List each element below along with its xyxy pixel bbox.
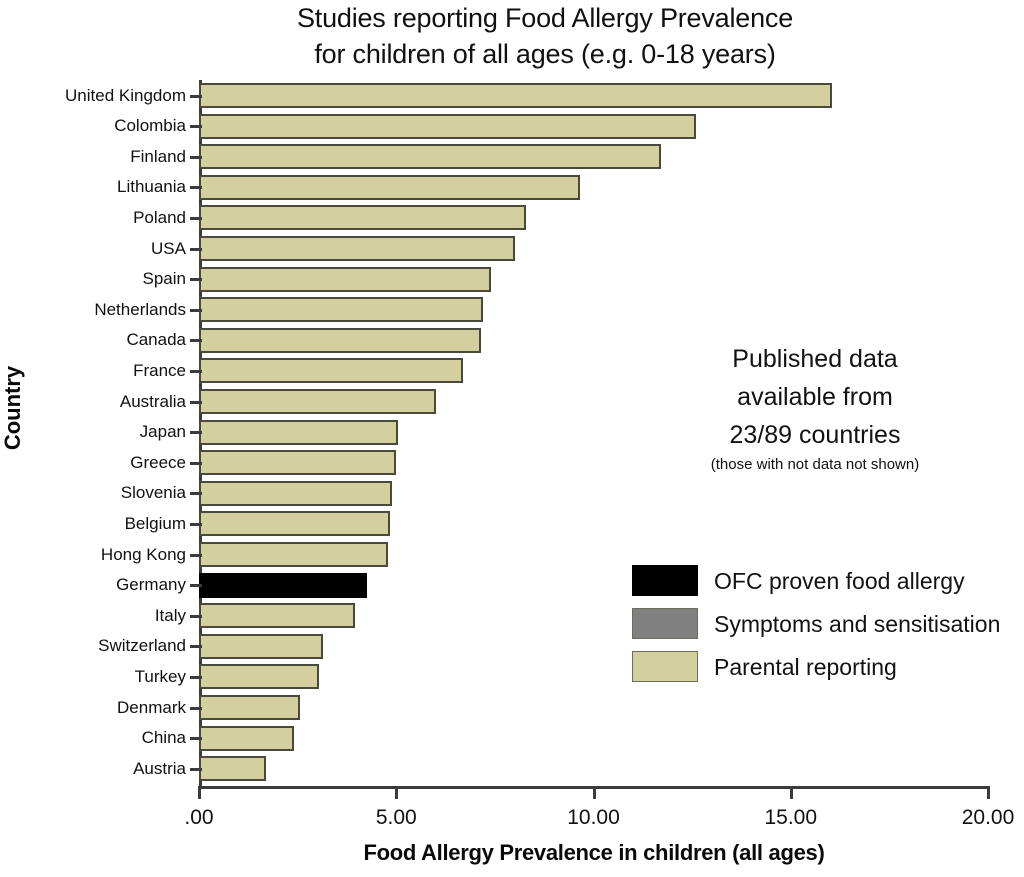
y-axis-label-canada: Canada xyxy=(6,331,186,348)
bar-greece[interactable] xyxy=(199,450,396,475)
bar-italy[interactable] xyxy=(199,603,355,628)
bar-lithuania[interactable] xyxy=(199,175,580,200)
bar-slovenia[interactable] xyxy=(199,481,392,506)
y-tick-mark xyxy=(190,645,202,648)
bar-germany[interactable] xyxy=(199,573,367,598)
y-tick-mark xyxy=(190,492,202,495)
y-tick-mark xyxy=(190,523,202,526)
annotation-line-1: Published data xyxy=(640,340,990,378)
y-tick-mark xyxy=(190,462,202,465)
legend-item-symptoms[interactable]: Symptoms and sensitisation xyxy=(632,605,1024,648)
x-tick-mark xyxy=(593,786,596,799)
bar-canada[interactable] xyxy=(199,328,481,353)
x-axis-label-15: 15.00 xyxy=(731,806,851,830)
bar-poland[interactable] xyxy=(199,205,526,230)
y-axis-label-japan: Japan xyxy=(6,423,186,440)
y-axis-label-lithuania: Lithuania xyxy=(6,178,186,195)
x-tick-mark xyxy=(987,786,990,799)
x-tick-mark xyxy=(395,786,398,799)
y-tick-mark xyxy=(190,156,202,159)
y-axis-label-france: France xyxy=(6,362,186,379)
y-tick-mark xyxy=(190,707,202,710)
bar-spain[interactable] xyxy=(199,267,491,292)
legend-label-symptoms: Symptoms and sensitisation xyxy=(714,609,1000,639)
legend-item-ofc[interactable]: OFC proven food allergy xyxy=(632,562,1024,605)
annotation-block: Published data available from 23/89 coun… xyxy=(640,340,990,476)
chart-title-line-1: Studies reporting Food Allergy Prevalenc… xyxy=(150,0,940,36)
x-axis-label-5: 5.00 xyxy=(336,806,456,830)
y-axis-label-denmark: Denmark xyxy=(6,699,186,716)
y-tick-mark xyxy=(190,339,202,342)
y-tick-mark xyxy=(190,370,202,373)
y-tick-mark xyxy=(190,278,202,281)
y-tick-mark xyxy=(190,186,202,189)
legend-swatch-symptoms xyxy=(632,608,698,639)
y-tick-mark xyxy=(190,584,202,587)
y-axis-label-austria: Austria xyxy=(6,760,186,777)
y-axis-label-belgium: Belgium xyxy=(6,515,186,532)
y-axis-label-australia: Australia xyxy=(6,393,186,410)
bar-china[interactable] xyxy=(199,726,294,751)
y-tick-mark xyxy=(190,768,202,771)
y-tick-mark xyxy=(190,554,202,557)
y-tick-mark xyxy=(190,737,202,740)
bar-france[interactable] xyxy=(199,358,463,383)
y-axis-label-china: China xyxy=(6,729,186,746)
bar-usa[interactable] xyxy=(199,236,515,261)
y-tick-mark xyxy=(190,676,202,679)
y-axis-label-germany: Germany xyxy=(6,576,186,593)
bar-netherlands[interactable] xyxy=(199,297,483,322)
y-tick-mark xyxy=(190,309,202,312)
bar-turkey[interactable] xyxy=(199,664,319,689)
page-title: Studies reporting Food Allergy Prevalenc… xyxy=(150,0,940,72)
legend-swatch-parental xyxy=(632,651,698,682)
y-axis-label-spain: Spain xyxy=(6,270,186,287)
y-axis-label-switzerland: Switzerland xyxy=(6,637,186,654)
bar-australia[interactable] xyxy=(199,389,436,414)
y-axis-labels: United KingdomColombiaFinlandLithuaniaPo… xyxy=(0,0,186,877)
y-axis-label-hong-kong: Hong Kong xyxy=(6,546,186,563)
legend-item-parental[interactable]: Parental reporting xyxy=(632,648,1024,691)
annotation-line-3: 23/89 countries xyxy=(640,416,990,454)
x-tick-mark xyxy=(790,786,793,799)
y-axis-label-italy: Italy xyxy=(6,607,186,624)
y-axis-label-finland: Finland xyxy=(6,148,186,165)
y-axis-label-poland: Poland xyxy=(6,209,186,226)
y-tick-mark xyxy=(190,431,202,434)
y-tick-mark xyxy=(190,217,202,220)
y-axis-label-greece: Greece xyxy=(6,454,186,471)
y-tick-mark xyxy=(190,615,202,618)
legend: OFC proven food allergySymptoms and sens… xyxy=(632,562,1024,691)
chart-title-line-2: for children of all ages (e.g. 0-18 year… xyxy=(150,36,940,72)
bar-finland[interactable] xyxy=(199,144,661,169)
x-axis-label-10: 10.00 xyxy=(534,806,654,830)
y-axis-label-colombia: Colombia xyxy=(6,117,186,134)
y-axis-label-turkey: Turkey xyxy=(6,668,186,685)
bar-hong-kong[interactable] xyxy=(199,542,388,567)
x-axis-label-20: 20.00 xyxy=(928,806,1024,830)
y-axis-label-united-kingdom: United Kingdom xyxy=(6,87,186,104)
x-tick-mark xyxy=(198,786,201,799)
y-axis-label-netherlands: Netherlands xyxy=(6,301,186,318)
y-axis-label-slovenia: Slovenia xyxy=(6,484,186,501)
bar-colombia[interactable] xyxy=(199,114,696,139)
bar-austria[interactable] xyxy=(199,756,266,781)
y-tick-mark xyxy=(190,95,202,98)
y-axis-title: Country xyxy=(0,348,26,468)
y-tick-mark xyxy=(190,248,202,251)
bar-united-kingdom[interactable] xyxy=(199,83,832,108)
y-tick-mark xyxy=(190,401,202,404)
bar-denmark[interactable] xyxy=(199,695,300,720)
legend-label-parental: Parental reporting xyxy=(714,652,897,682)
legend-swatch-ofc xyxy=(632,565,698,596)
bar-switzerland[interactable] xyxy=(199,634,323,659)
y-tick-mark xyxy=(190,125,202,128)
x-axis-title: Food Allergy Prevalence in children (all… xyxy=(199,840,989,866)
x-axis-label-0: .00 xyxy=(139,806,259,830)
legend-label-ofc: OFC proven food allergy xyxy=(714,566,965,596)
bar-belgium[interactable] xyxy=(199,511,390,536)
y-axis-label-usa: USA xyxy=(6,240,186,257)
bar-japan[interactable] xyxy=(199,420,398,445)
annotation-note: (those with not data not shown) xyxy=(640,454,990,476)
annotation-line-2: available from xyxy=(640,378,990,416)
